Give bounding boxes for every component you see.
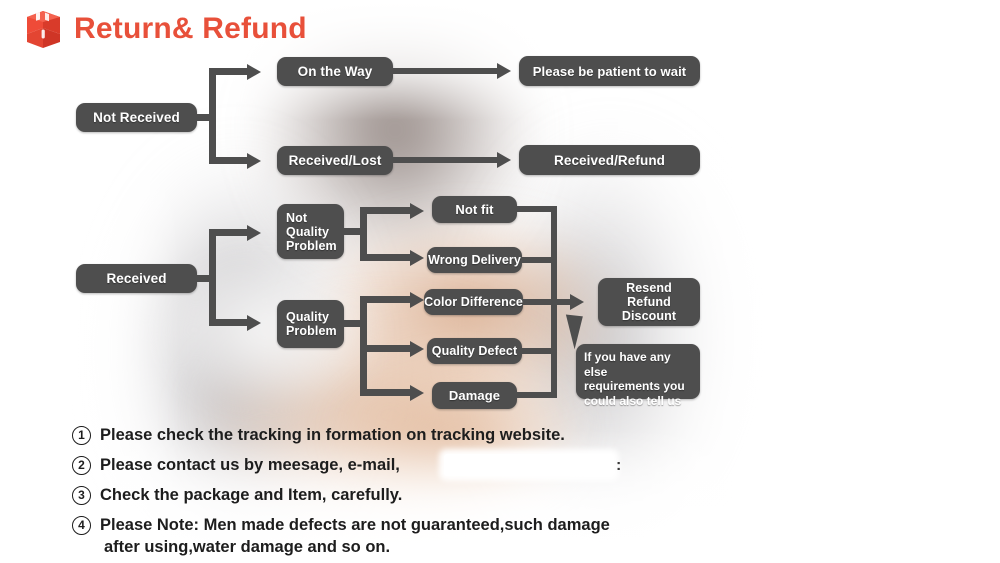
connector-line [360,345,412,352]
flow-node-resend-refund-discount[interactable]: ResendRefundDiscount [598,278,700,326]
note-trailing-colon: : [616,457,621,475]
flow-node-color-difference[interactable]: Color Difference [424,289,523,315]
notes-list: 1 Please check the tracking in formation… [72,424,772,563]
note-text-line2: after using,water damage and so on. [100,536,610,558]
note-number: 2 [72,456,91,475]
flow-node-label: Please be patient to wait [519,64,700,79]
flow-node-label: Received/Lost [277,153,393,168]
note-number: 4 [72,516,91,535]
note-text: Please check the tracking in formation o… [100,424,565,446]
flow-node-received[interactable]: Received [76,264,197,293]
flow-node-on-the-way[interactable]: On the Way [277,57,393,86]
connector-arrow [410,385,424,401]
flow-node-label: Received [76,271,197,286]
bubble-text: If you have any elserequirements youcoul… [584,350,685,408]
flow-node-received-refund[interactable]: Received/Refund [519,145,700,175]
connector-line [209,68,216,164]
connector-arrow [410,250,424,266]
note-text: Check the package and Item, carefully. [100,484,402,506]
flow-node-label: Damage [432,388,517,403]
connector-line [360,389,412,396]
flowchart: Not Received On the Way Please be patien… [0,0,1000,420]
connector-line [209,229,249,236]
connector-arrow [570,294,584,310]
connector-line [209,157,249,164]
connector-arrow [410,292,424,308]
flow-node-received-lost[interactable]: Received/Lost [277,146,393,175]
connector-line [209,319,249,326]
flow-node-label: Not Received [76,110,197,125]
note-number: 3 [72,486,91,505]
flow-node-label: Not fit [432,202,517,217]
flow-node-label: Wrong Delivery [427,253,522,267]
flow-node-label: On the Way [277,64,393,79]
flow-node-wrong-delivery[interactable]: Wrong Delivery [427,247,522,273]
note-text: Please Note: Men made defects are not gu… [100,514,610,558]
connector-line [360,207,412,214]
connector-line [209,68,249,75]
redacted-contact-block [444,454,614,476]
connector-line [209,229,216,326]
flow-node-label: Color Difference [424,295,523,309]
connector-arrow [410,203,424,219]
note-item: 2 Please contact us by meesage, e-mail, [72,454,772,476]
connector-line [360,207,367,261]
flow-node-quality-defect[interactable]: Quality Defect [427,338,522,364]
note-item: 3 Check the package and Item, carefully. [72,484,772,506]
connector-arrow [247,315,261,331]
note-text: Please contact us by meesage, e-mail, [100,454,400,476]
note-text-line1: Please Note: Men made defects are not gu… [100,516,610,534]
flow-node-not-fit[interactable]: Not fit [432,196,517,223]
connector-line [360,254,412,261]
return-refund-infographic: Return& Refund Not Received On the Way P… [0,0,1000,563]
connector-line [393,157,499,163]
connector-line [360,296,412,303]
connector-arrow [247,225,261,241]
connector-arrow [247,153,261,169]
flow-node-label: Quality Defect [427,344,522,358]
connector-arrow [497,63,511,79]
connector-arrow [410,341,424,357]
flow-node-label: Received/Refund [519,153,700,168]
flow-node-label: QualityProblem [286,310,337,338]
extra-requirements-bubble: If you have any elserequirements youcoul… [576,344,700,399]
note-number: 1 [72,426,91,445]
flow-node-quality-problem[interactable]: QualityProblem [277,300,344,348]
flow-node-please-be-patient[interactable]: Please be patient to wait [519,56,700,86]
connector-line [393,68,499,74]
flow-node-label: NotQualityProblem [286,211,337,253]
note-item: 4 Please Note: Men made defects are not … [72,514,772,558]
connector-arrow [247,64,261,80]
note-item: 1 Please check the tracking in formation… [72,424,772,446]
connector-arrow [497,152,511,168]
flow-node-not-quality-problem[interactable]: NotQualityProblem [277,204,344,259]
flow-node-damage[interactable]: Damage [432,382,517,409]
flow-node-label: ResendRefundDiscount [598,281,700,323]
flow-node-not-received[interactable]: Not Received [76,103,197,132]
